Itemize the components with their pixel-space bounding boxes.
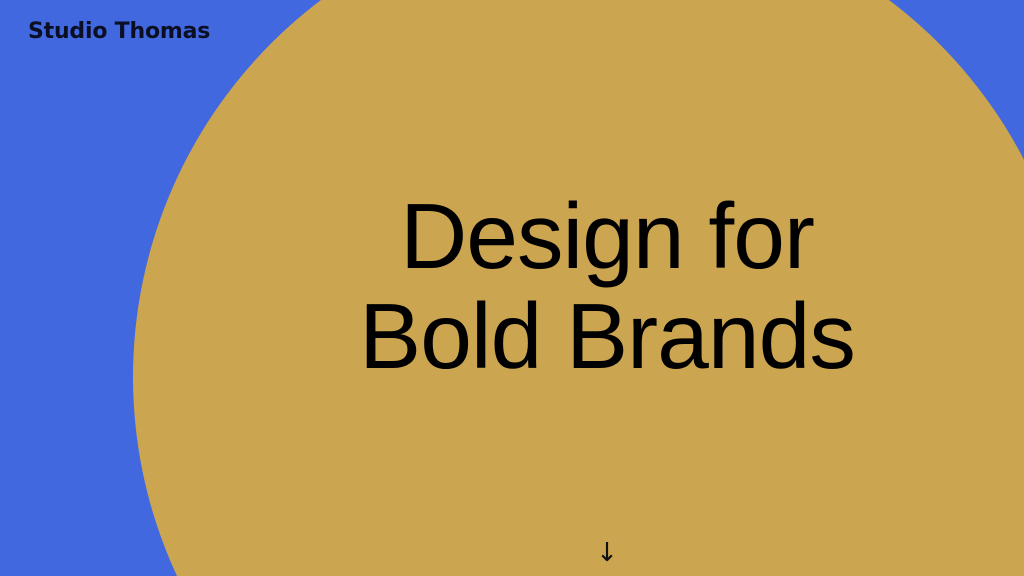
presentation-slide: Studio Thomas Design for Bold Brands ↓ <box>0 0 1024 576</box>
headline-line-1: Design for <box>190 186 1024 286</box>
headline-line-2: Bold Brands <box>190 286 1024 386</box>
scroll-cue[interactable]: ↓ <box>0 540 1024 566</box>
headline-block: Design for Bold Brands <box>0 186 1024 386</box>
brand-wordmark[interactable]: Studio Thomas <box>28 19 210 44</box>
arrow-down-icon[interactable]: ↓ <box>596 540 618 566</box>
